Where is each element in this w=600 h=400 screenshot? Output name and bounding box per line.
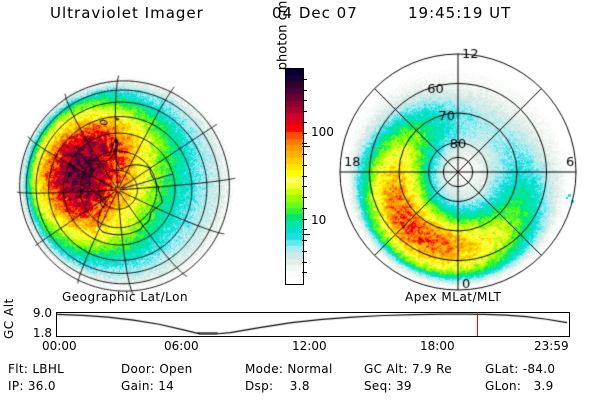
status-value: 7.9 Re bbox=[412, 362, 452, 376]
status-glon: GLon: 3.9 bbox=[485, 379, 554, 393]
colorbar-title-exp1: -2 bbox=[274, 0, 284, 1]
colorbar-minor-tick bbox=[302, 79, 307, 80]
status-label: Seq: bbox=[364, 379, 396, 393]
status-label: Door: bbox=[121, 362, 159, 376]
status-label: GLon: bbox=[485, 379, 525, 393]
colorbar-tick-label-0: 100 bbox=[311, 125, 334, 139]
colorbar-minor-tick bbox=[302, 143, 307, 144]
status-value: LBHL bbox=[32, 362, 64, 376]
header-time: 19:45:19 UT bbox=[408, 4, 511, 22]
status-label: Flt: bbox=[8, 362, 32, 376]
status-value: Open bbox=[159, 362, 192, 376]
colorbar-minor-tick bbox=[302, 90, 307, 91]
colorbar-minor-tick bbox=[302, 122, 307, 123]
apex-panel-caption: Apex MLat/MLT bbox=[405, 290, 501, 304]
colorbar-minor-tick bbox=[302, 272, 307, 273]
colorbar-minor-tick bbox=[302, 262, 307, 263]
status-flt: Flt: LBHL bbox=[8, 362, 64, 376]
altitude-strip[interactable]: GC Alt 9.0 1.8 00:0006:0012:0018:0023:59 bbox=[0, 305, 600, 360]
altitude-strip-xtick-2: 12:00 bbox=[292, 339, 327, 353]
colorbar-minor-tick bbox=[302, 229, 307, 230]
colorbar-minor-tick bbox=[302, 219, 307, 220]
colorbar-minor-tick bbox=[302, 251, 307, 252]
status-value: 39 bbox=[396, 379, 412, 393]
colorbar: photon cm-2s-1 10010 bbox=[265, 55, 325, 295]
status-mode: Mode: Normal bbox=[245, 362, 333, 376]
colorbar-ticks bbox=[302, 68, 310, 283]
status-label: GLat: bbox=[485, 362, 523, 376]
colorbar-minor-tick bbox=[302, 100, 307, 101]
status-dsp: Dsp: 3.8 bbox=[245, 379, 310, 393]
geographic-image[interactable] bbox=[8, 46, 260, 298]
page-title: Ultraviolet Imager bbox=[50, 4, 204, 22]
status-label: IP: bbox=[8, 379, 28, 393]
colorbar-minor-tick bbox=[302, 111, 307, 112]
colorbar-minor-tick bbox=[302, 208, 307, 209]
colorbar-title-text: photon cm bbox=[275, 1, 290, 71]
status-gcalt: GC Alt: 7.9 Re bbox=[364, 362, 452, 376]
colorbar-minor-tick bbox=[302, 133, 307, 134]
altitude-strip-ymax-label: 9.0 bbox=[20, 306, 52, 320]
colorbar-minor-tick bbox=[302, 186, 307, 187]
status-gain: Gain: 14 bbox=[121, 379, 174, 393]
apex-image[interactable] bbox=[332, 46, 584, 298]
status-value: 36.0 bbox=[28, 379, 56, 393]
altitude-strip-xtick-0: 00:00 bbox=[42, 339, 77, 353]
status-label: Gain: bbox=[121, 379, 158, 393]
colorbar-gradient bbox=[286, 69, 303, 284]
altitude-strip-xtick-1: 06:00 bbox=[164, 339, 199, 353]
status-value: 3.8 bbox=[277, 379, 309, 393]
altitude-trace[interactable] bbox=[56, 312, 568, 335]
status-value: Normal bbox=[287, 362, 332, 376]
status-value: 3.9 bbox=[525, 379, 553, 393]
status-label: GC Alt: bbox=[364, 362, 412, 376]
status-block: Flt: LBHLDoor: OpenMode: NormalGC Alt: 7… bbox=[0, 362, 600, 398]
status-value: -84.0 bbox=[523, 362, 556, 376]
status-glat: GLat: -84.0 bbox=[485, 362, 555, 376]
status-ip: IP: 36.0 bbox=[8, 379, 56, 393]
colorbar-minor-tick bbox=[302, 197, 307, 198]
geographic-panel[interactable] bbox=[8, 46, 260, 298]
geographic-panel-caption: Geographic Lat/Lon bbox=[62, 290, 188, 304]
status-door: Door: Open bbox=[121, 362, 193, 376]
colorbar-major-tick bbox=[302, 146, 310, 147]
colorbar-minor-tick bbox=[302, 176, 307, 177]
status-value: 14 bbox=[158, 379, 174, 393]
colorbar-major-tick bbox=[302, 234, 310, 235]
colorbar-minor-tick bbox=[302, 154, 307, 155]
uvi-display: Ultraviolet Imager 04 Dec 07 19:45:19 UT… bbox=[0, 0, 600, 400]
apex-panel[interactable] bbox=[332, 46, 584, 298]
altitude-strip-xtick-4: 23:59 bbox=[534, 339, 569, 353]
colorbar-minor-tick bbox=[302, 165, 307, 166]
status-label: Dsp: bbox=[245, 379, 277, 393]
altitude-strip-ymin-label: 1.8 bbox=[20, 326, 52, 340]
colorbar-tick-label-1: 10 bbox=[311, 213, 326, 227]
altitude-strip-xtick-3: 18:00 bbox=[420, 339, 455, 353]
status-seq: Seq: 39 bbox=[364, 379, 412, 393]
colorbar-minor-tick bbox=[302, 240, 307, 241]
time-cursor[interactable] bbox=[477, 313, 478, 336]
status-label: Mode: bbox=[245, 362, 287, 376]
